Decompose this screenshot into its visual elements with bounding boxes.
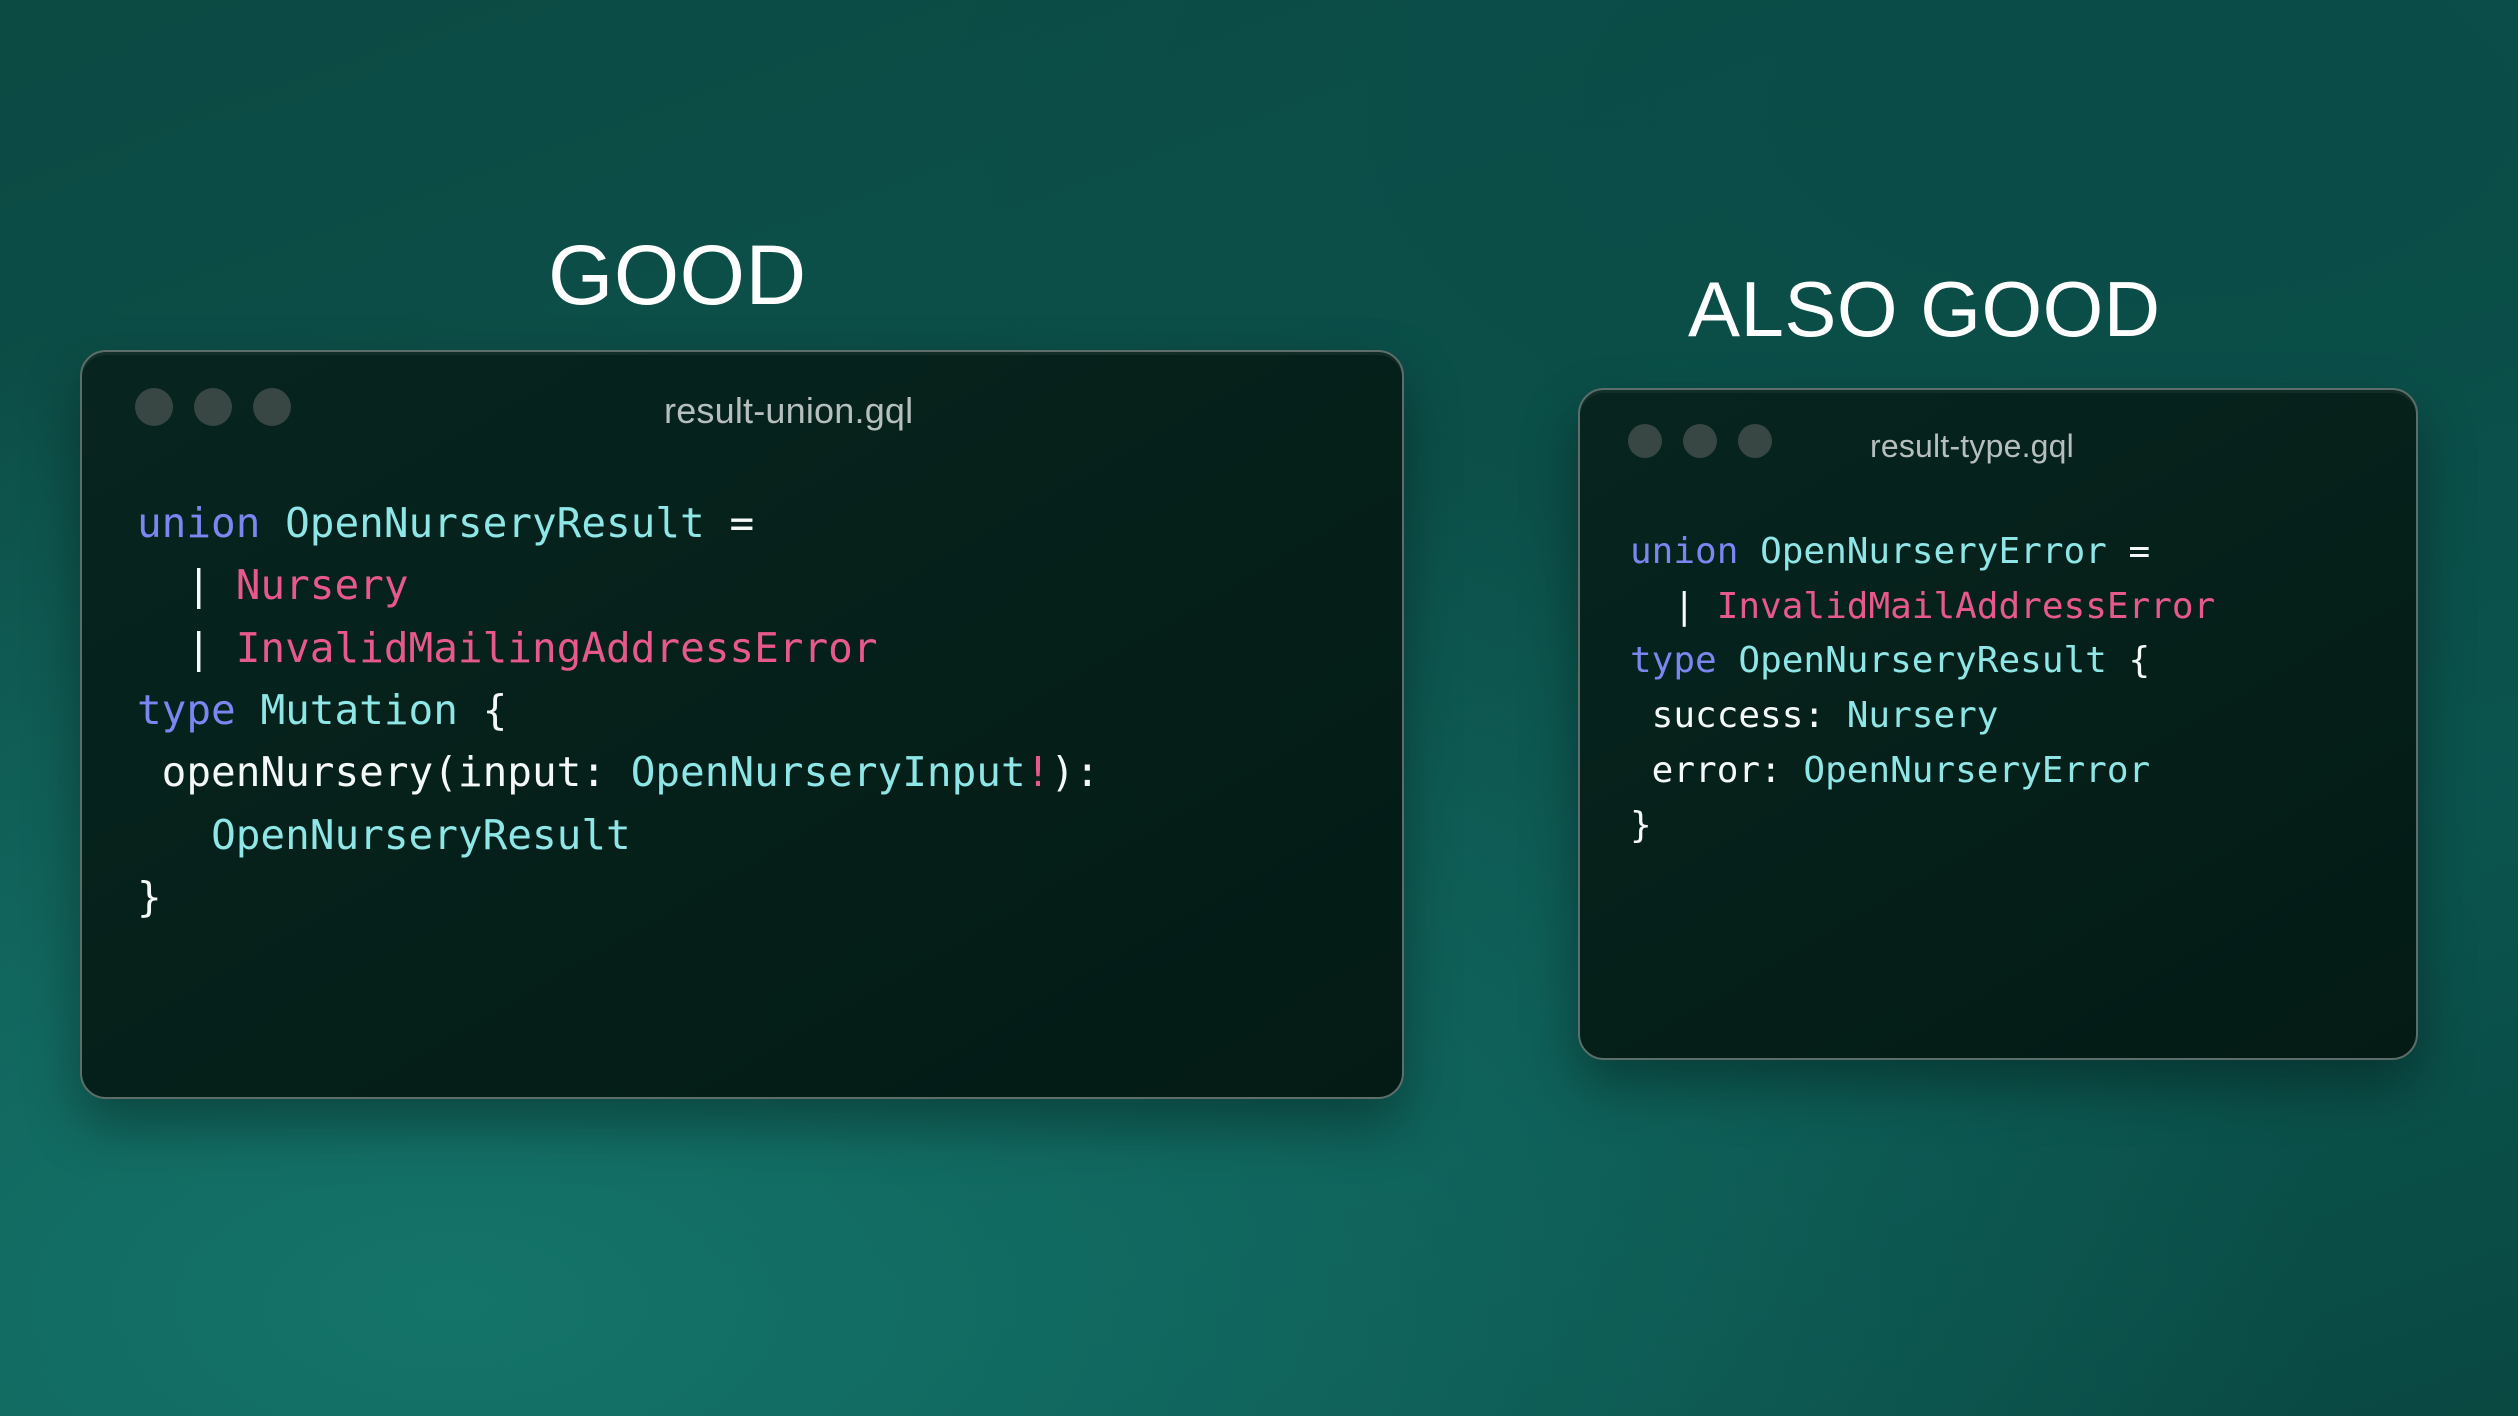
code-token-punct: ): bbox=[1050, 748, 1099, 796]
code-token-member: InvalidMailingAddressError bbox=[236, 624, 878, 672]
code-token-punct: } bbox=[137, 873, 162, 921]
code-line: OpenNurseryResult bbox=[137, 804, 1100, 866]
code-line: type Mutation { bbox=[137, 679, 1100, 741]
code-token-type: OpenNurseryResult bbox=[285, 499, 705, 547]
panel-heading-good: GOOD bbox=[548, 233, 807, 317]
window-filename: result-type.gql bbox=[1870, 428, 2074, 465]
maximize-dot-icon[interactable] bbox=[253, 388, 291, 426]
code-token-member: Nursery bbox=[236, 561, 409, 609]
code-token-plain bbox=[260, 499, 285, 547]
code-token-plain bbox=[1695, 586, 1717, 627]
code-token-plain bbox=[1630, 586, 1673, 627]
code-token-plain bbox=[137, 561, 186, 609]
code-token-kw: type bbox=[137, 686, 236, 734]
code-token-plain bbox=[236, 686, 261, 734]
code-token-plain: openNursery(input: bbox=[137, 748, 631, 796]
code-token-plain: success: bbox=[1630, 695, 1847, 736]
code-token-kw: type bbox=[1630, 640, 1717, 681]
code-token-punct: } bbox=[1630, 805, 1652, 846]
code-line: union OpenNurseryResult = bbox=[137, 492, 1100, 554]
maximize-dot-icon[interactable] bbox=[1738, 424, 1772, 458]
code-line: | InvalidMailAddressError bbox=[1630, 580, 2215, 635]
window-titlebar: result-type.gql bbox=[1580, 390, 2416, 474]
code-window-also-good: result-type.gql union OpenNurseryError =… bbox=[1578, 388, 2418, 1060]
code-token-type: OpenNurseryError bbox=[1803, 750, 2150, 791]
code-token-plain bbox=[211, 561, 236, 609]
code-token-member: ! bbox=[1026, 748, 1051, 796]
code-token-pipe: | bbox=[186, 624, 211, 672]
code-token-plain bbox=[1717, 640, 1739, 681]
slide-background: GOOD result-union.gql union OpenNurseryR… bbox=[0, 0, 2518, 1416]
code-line: openNursery(input: OpenNurseryInput!): bbox=[137, 741, 1100, 803]
code-block-good: union OpenNurseryResult = | Nursery | In… bbox=[137, 492, 1100, 928]
panel-heading-also-good: ALSO GOOD bbox=[1688, 270, 2161, 348]
window-traffic-lights bbox=[135, 388, 291, 426]
window-traffic-lights bbox=[1628, 424, 1772, 458]
code-token-type: OpenNurseryInput bbox=[631, 748, 1026, 796]
code-token-member: InvalidMailAddressError bbox=[1717, 586, 2216, 627]
close-dot-icon[interactable] bbox=[135, 388, 173, 426]
code-token-punct: { bbox=[483, 686, 508, 734]
code-block-also-good: union OpenNurseryError = | InvalidMailAd… bbox=[1630, 525, 2215, 853]
code-line: type OpenNurseryResult { bbox=[1630, 634, 2215, 689]
code-line: } bbox=[137, 866, 1100, 928]
window-filename: result-union.gql bbox=[664, 390, 913, 432]
code-token-punct: = bbox=[729, 499, 754, 547]
close-dot-icon[interactable] bbox=[1628, 424, 1662, 458]
code-token-plain bbox=[137, 811, 211, 859]
minimize-dot-icon[interactable] bbox=[1683, 424, 1717, 458]
code-line: union OpenNurseryError = bbox=[1630, 525, 2215, 580]
code-line: | Nursery bbox=[137, 554, 1100, 616]
minimize-dot-icon[interactable] bbox=[194, 388, 232, 426]
code-token-plain bbox=[2107, 640, 2129, 681]
code-token-type: Mutation bbox=[260, 686, 457, 734]
code-token-plain bbox=[705, 499, 730, 547]
code-token-plain bbox=[1738, 531, 1760, 572]
code-token-plain bbox=[137, 624, 186, 672]
code-token-pipe: | bbox=[1673, 586, 1695, 627]
code-token-type: OpenNurseryResult bbox=[211, 811, 631, 859]
code-token-type: Nursery bbox=[1847, 695, 1999, 736]
code-token-plain bbox=[458, 686, 483, 734]
code-token-kw: union bbox=[137, 499, 260, 547]
code-token-type: OpenNurseryResult bbox=[1738, 640, 2106, 681]
code-line: success: Nursery bbox=[1630, 689, 2215, 744]
code-token-plain bbox=[2107, 531, 2129, 572]
code-window-good: result-union.gql union OpenNurseryResult… bbox=[80, 350, 1404, 1099]
code-token-plain bbox=[211, 624, 236, 672]
code-line: } bbox=[1630, 799, 2215, 854]
code-token-type: OpenNurseryError bbox=[1760, 531, 2107, 572]
code-token-kw: union bbox=[1630, 531, 1738, 572]
code-line: error: OpenNurseryError bbox=[1630, 744, 2215, 799]
code-line: | InvalidMailingAddressError bbox=[137, 617, 1100, 679]
code-token-punct: { bbox=[2129, 640, 2151, 681]
code-token-plain: error: bbox=[1630, 750, 1803, 791]
code-token-punct: = bbox=[2129, 531, 2151, 572]
code-token-pipe: | bbox=[186, 561, 211, 609]
window-titlebar: result-union.gql bbox=[82, 352, 1402, 444]
